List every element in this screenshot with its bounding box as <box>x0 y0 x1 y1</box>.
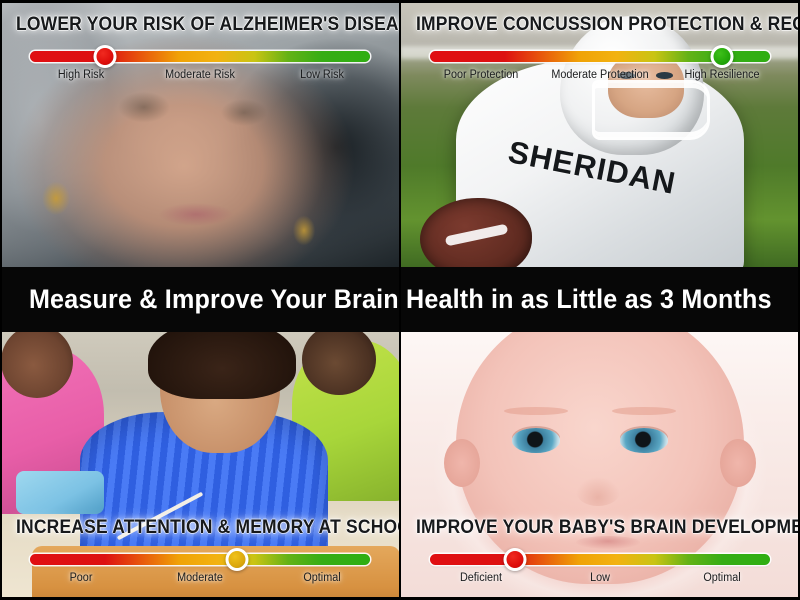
desk-tablet <box>16 471 104 514</box>
baby-eye-right <box>620 428 668 452</box>
panel-baby-overlay: IMPROVE YOUR BABY'S BRAIN DEVELOPMENT De… <box>400 517 800 588</box>
slider-labels-alzheimers: High Risk Moderate Risk Low Risk <box>30 69 370 85</box>
slider-knob[interactable] <box>504 548 527 571</box>
slider-label: Low <box>590 572 610 584</box>
infographic-stage: LOWER YOUR RISK OF ALZHEIMER'S DISEASE H… <box>0 0 800 600</box>
slider-label: Moderate Protection <box>551 69 648 81</box>
slider-baby[interactable] <box>430 551 770 567</box>
baby-eye-left <box>512 428 560 452</box>
slider-knob[interactable] <box>93 45 116 68</box>
slider-label: Moderate Risk <box>165 69 235 81</box>
slider-labels-concussion: Poor Protection Moderate Protection High… <box>430 69 770 85</box>
slider-labels-school: Poor Moderate Optimal <box>30 572 370 588</box>
baby-ear-right <box>720 439 756 487</box>
slider-label: High Risk <box>58 69 104 81</box>
panel-alzheimers: LOWER YOUR RISK OF ALZHEIMER'S DISEASE H… <box>0 0 400 268</box>
frame-edge-left <box>0 0 2 600</box>
slider-track[interactable] <box>430 554 770 565</box>
slider-alzheimers[interactable] <box>30 48 370 64</box>
slider-label: High Resilience <box>685 69 760 81</box>
baby-nose <box>576 477 620 506</box>
frame-edge-vertical-divider <box>399 0 401 600</box>
slider-track[interactable] <box>30 51 370 62</box>
helmet-facemask <box>592 80 710 140</box>
football <box>420 198 532 268</box>
slider-label: Moderate <box>177 572 223 584</box>
slider-label: Poor <box>70 572 93 584</box>
slider-knob[interactable] <box>711 45 734 68</box>
panel-baby: IMPROVE YOUR BABY'S BRAIN DEVELOPMENT De… <box>400 332 800 600</box>
slider-knob[interactable] <box>226 548 249 571</box>
headline-alzheimers: LOWER YOUR RISK OF ALZHEIMER'S DISEASE <box>16 14 384 36</box>
panel-school-overlay: INCREASE ATTENTION & MEMORY AT SCHOOL Po… <box>0 517 400 588</box>
baby-brow-left <box>504 407 568 415</box>
slider-label: Optimal <box>304 572 341 584</box>
panel-concussion-overlay: IMPROVE CONCUSSION PROTECTION & RECOVERY… <box>400 14 800 85</box>
slider-label: Low Risk <box>300 69 344 81</box>
panel-school: INCREASE ATTENTION & MEMORY AT SCHOOL Po… <box>0 332 400 600</box>
child-center-hair <box>148 332 296 399</box>
slider-labels-baby: Deficient Low Optimal <box>430 572 770 588</box>
headline-baby: IMPROVE YOUR BABY'S BRAIN DEVELOPMENT <box>416 517 784 539</box>
slider-label: Deficient <box>460 572 502 584</box>
panel-alzheimers-overlay: LOWER YOUR RISK OF ALZHEIMER'S DISEASE H… <box>0 14 400 85</box>
baby-brow-right <box>612 407 676 415</box>
baby-ear-left <box>444 439 480 487</box>
panel-concussion: SHERIDAN IMPROVE CONCUSSION PROTECTION &… <box>400 0 800 268</box>
headline-concussion: IMPROVE CONCUSSION PROTECTION & RECOVERY <box>416 14 784 36</box>
headline-school: INCREASE ATTENTION & MEMORY AT SCHOOL <box>16 517 384 539</box>
slider-track[interactable] <box>30 554 370 565</box>
slider-label: Optimal <box>704 572 741 584</box>
slider-label: Poor Protection <box>444 69 519 81</box>
slider-school[interactable] <box>30 551 370 567</box>
slider-concussion[interactable] <box>430 48 770 64</box>
